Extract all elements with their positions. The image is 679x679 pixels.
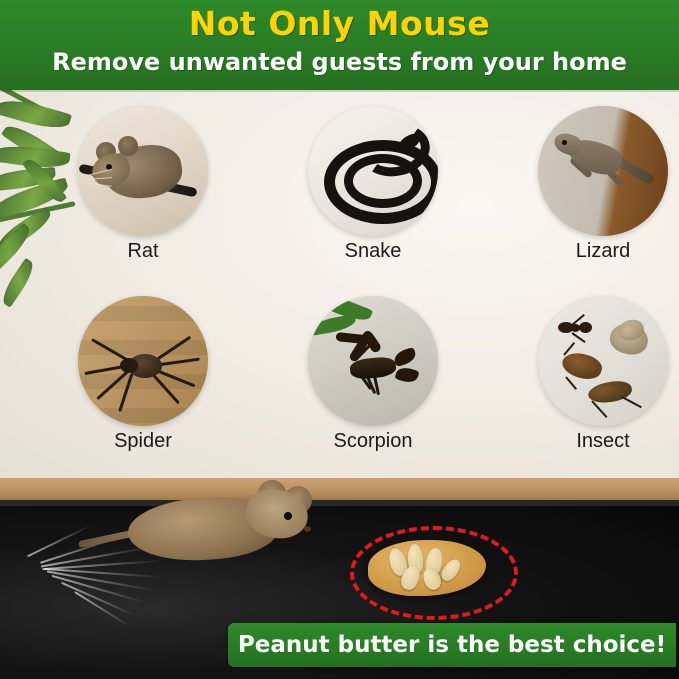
pest-item-lizard[interactable]: Lizard: [538, 106, 668, 271]
bait-highlight-ring: [350, 526, 518, 620]
pest-label-scorpion: Scorpion: [296, 430, 450, 453]
pest-item-snake[interactable]: Snake: [308, 106, 438, 271]
mouse-on-glue-trap: [118, 478, 308, 578]
pest-label-snake: Snake: [296, 240, 450, 263]
pest-item-rat[interactable]: Rat: [78, 106, 208, 271]
pest-item-scorpion[interactable]: Scorpion: [308, 296, 438, 461]
pest-grid: Rat Snake: [78, 106, 668, 476]
pest-label-insect: Insect: [526, 430, 679, 453]
pest-item-spider[interactable]: Spider: [78, 296, 208, 461]
pest-label-lizard: Lizard: [526, 240, 679, 263]
scorpion-icon: [308, 296, 438, 426]
lizard-icon: [538, 106, 668, 236]
rat-icon: [78, 106, 208, 236]
pest-item-insect[interactable]: Insect: [538, 296, 668, 461]
spider-icon: [78, 296, 208, 426]
banner-subtitle: Remove unwanted guests from your home: [0, 48, 679, 76]
banner-title: Not Only Mouse: [0, 4, 679, 43]
pest-label-rat: Rat: [66, 240, 220, 263]
footer-callout: Peanut butter is the best choice!: [228, 623, 676, 667]
pest-grid-section: Rat Snake: [0, 90, 679, 478]
snake-icon: [308, 106, 438, 236]
wood-floor: [0, 478, 679, 502]
footer-callout-text: Peanut butter is the best choice!: [238, 632, 666, 658]
insect-icon: [538, 296, 668, 426]
top-banner: Not Only Mouse Remove unwanted guests fr…: [0, 0, 679, 90]
trap-edge: [0, 500, 679, 506]
product-infographic: Not Only Mouse Remove unwanted guests fr…: [0, 0, 679, 679]
pest-label-spider: Spider: [66, 430, 220, 453]
